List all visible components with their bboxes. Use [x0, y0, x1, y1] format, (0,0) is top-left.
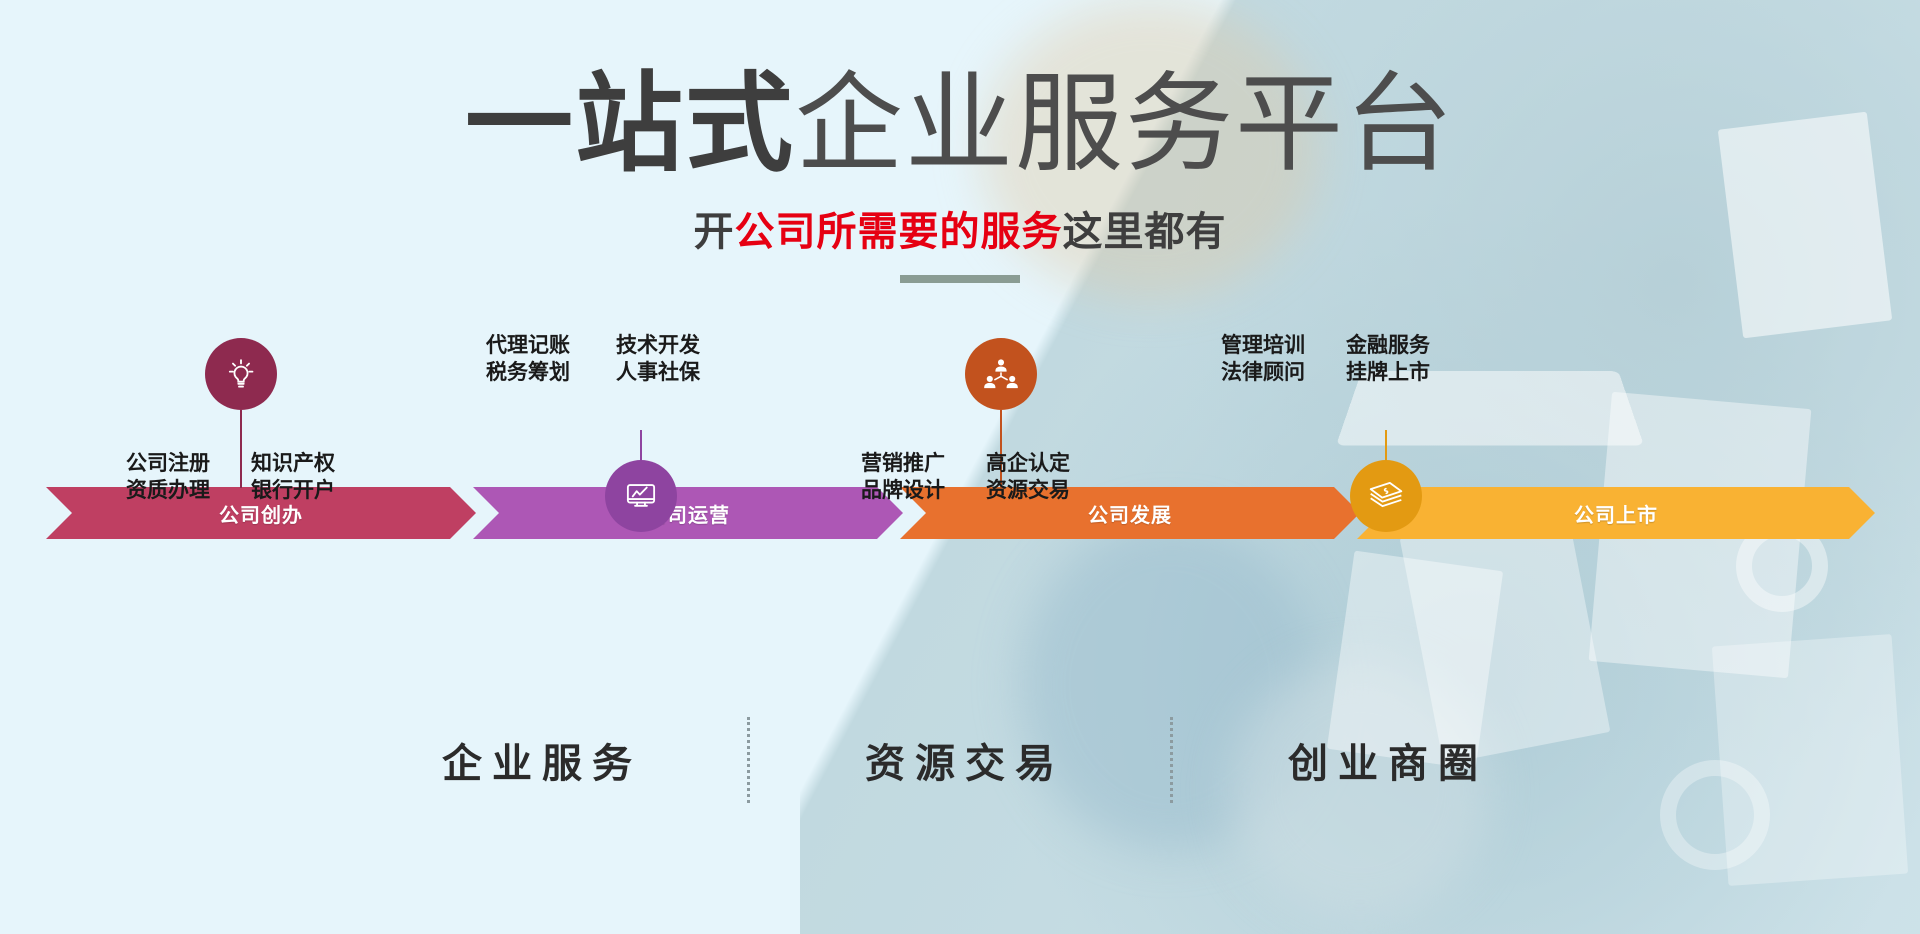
- stage-service-labels: 金融服务挂牌上市: [1346, 332, 1430, 387]
- page-title-strong: 一站式: [465, 63, 795, 184]
- service-label-line: 人事社保: [616, 359, 700, 386]
- timeline-stage-label: 公司发展: [1088, 499, 1172, 528]
- timeline-stage-4[interactable]: 公司上市: [1357, 487, 1875, 539]
- service-label-line: 资源交易: [986, 477, 1070, 504]
- lightbulb-icon[interactable]: [205, 338, 277, 410]
- stage-service-labels: 公司注册资质办理: [126, 450, 210, 505]
- service-label-line: 金融服务: [1346, 332, 1430, 359]
- service-label-line: 技术开发: [616, 332, 700, 359]
- team-network-icon[interactable]: [965, 338, 1037, 410]
- service-label-line: 营销推广: [861, 450, 945, 477]
- page-subtitle: 开公司所需要的服务这里都有: [0, 199, 1920, 257]
- page-title-light: 企业服务平台: [795, 63, 1455, 184]
- service-timeline: 公司创办公司运营公司发展公司上市 公司注册资质办理知识产权银行开户代理记账税务筹…: [46, 360, 1884, 660]
- stage-service-labels: 知识产权银行开户: [251, 450, 335, 505]
- service-label-line: 银行开户: [251, 477, 335, 504]
- page-subtitle-accent: 公司所需要的服务: [735, 210, 1063, 254]
- stage-service-labels: 营销推广品牌设计: [861, 450, 945, 505]
- page-subtitle-prefix: 开: [694, 210, 735, 254]
- page-subtitle-suffix: 这里都有: [1063, 210, 1227, 254]
- page-title: 一站式企业服务平台: [0, 62, 1920, 185]
- service-label-line: 公司注册: [126, 450, 210, 477]
- timeline-node-stem: [640, 430, 642, 462]
- stage-service-labels: 高企认定资源交易: [986, 450, 1070, 505]
- timeline-node-stem: [1385, 430, 1387, 462]
- service-label-line: 代理记账: [486, 332, 570, 359]
- timeline-node-stem: [240, 410, 242, 488]
- timeline-stage-label: 公司上市: [1574, 499, 1658, 528]
- timeline-stage-2[interactable]: 公司运营: [473, 487, 903, 539]
- service-label-line: 高企认定: [986, 450, 1070, 477]
- service-label-line: 挂牌上市: [1346, 359, 1430, 386]
- category-row: 企业服务资源交易创业商圈: [0, 700, 1920, 820]
- service-label-line: 品牌设计: [861, 477, 945, 504]
- timeline-stage-3[interactable]: 公司发展: [900, 487, 1360, 539]
- stage-service-labels: 代理记账税务筹划: [486, 332, 570, 387]
- hero-headline: 一站式企业服务平台 开公司所需要的服务这里都有: [0, 62, 1920, 283]
- title-underline-rule: [900, 275, 1020, 283]
- service-label-line: 法律顾问: [1221, 359, 1305, 386]
- category-resource-trading[interactable]: 资源交易: [750, 731, 1170, 789]
- service-label-line: 管理培训: [1221, 332, 1305, 359]
- stage-service-labels: 管理培训法律顾问: [1221, 332, 1305, 387]
- stage-service-labels: 技术开发人事社保: [616, 332, 700, 387]
- category-enterprise-service[interactable]: 企业服务: [327, 731, 747, 789]
- service-label-line: 税务筹划: [486, 359, 570, 386]
- money-stack-icon[interactable]: [1350, 460, 1422, 532]
- service-label-line: 资质办理: [126, 477, 210, 504]
- service-label-line: 知识产权: [251, 450, 335, 477]
- monitor-chart-icon[interactable]: [605, 460, 677, 532]
- promo-banner: 一站式企业服务平台 开公司所需要的服务这里都有 公司创办公司运营公司发展公司上市…: [0, 0, 1920, 934]
- category-startup-circle[interactable]: 创业商圈: [1173, 731, 1593, 789]
